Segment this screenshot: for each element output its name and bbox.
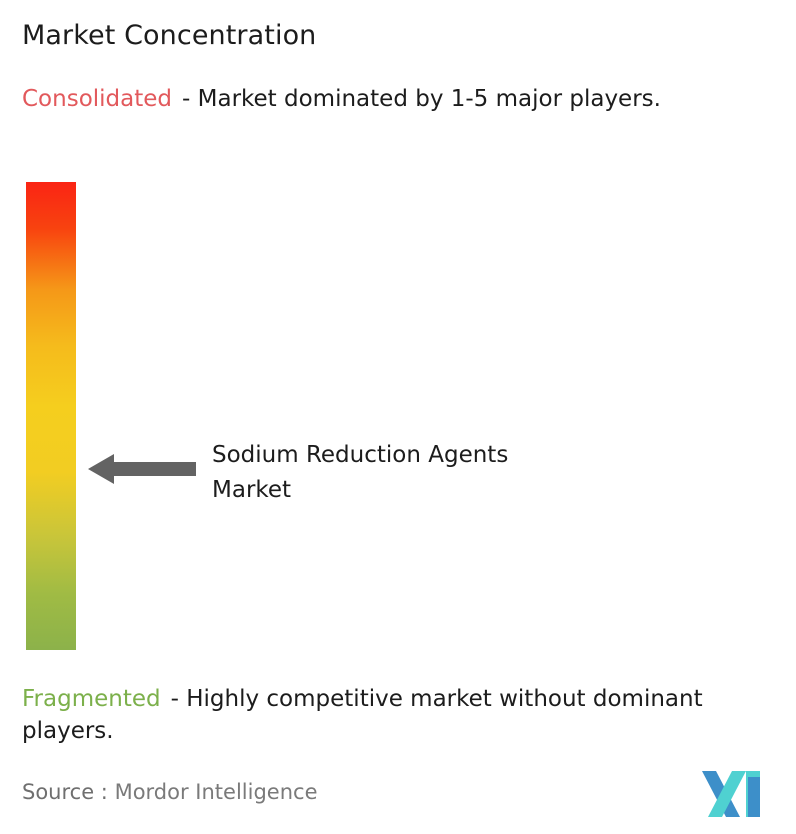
source-value: Mordor Intelligence [115, 780, 318, 804]
marker-label-line1: Sodium Reduction Agents [212, 438, 632, 473]
page-title: Market Concentration [22, 20, 316, 51]
marker-label: Sodium Reduction Agents Market [212, 438, 632, 507]
concentration-gradient-scale [26, 182, 76, 650]
caption-consolidated-keyword: Consolidated [22, 86, 172, 112]
left-arrow-icon [88, 452, 196, 486]
caption-consolidated-description: Market dominated by 1-5 major players. [198, 86, 661, 112]
caption-consolidated: Consolidated- Market dominated by 1-5 ma… [22, 84, 762, 116]
source-attribution: Source : Mordor Intelligence [22, 780, 317, 804]
footer: Source : Mordor Intelligence [0, 768, 796, 834]
caption-fragmented-separator: - [171, 686, 179, 712]
source-label: Source : [22, 780, 108, 804]
marker-label-line2: Market [212, 473, 632, 508]
mordor-intelligence-logo [702, 771, 764, 817]
caption-consolidated-separator: - [182, 86, 190, 112]
mordor-logo-icon [702, 771, 764, 817]
gradient-bar-svg [26, 182, 76, 650]
caption-fragmented-keyword: Fragmented [22, 686, 161, 712]
market-concentration-infographic: Market Concentration Consolidated- Marke… [0, 0, 796, 834]
caption-fragmented: Fragmented- Highly competitive market wi… [22, 684, 792, 747]
marker-arrow [88, 452, 196, 486]
